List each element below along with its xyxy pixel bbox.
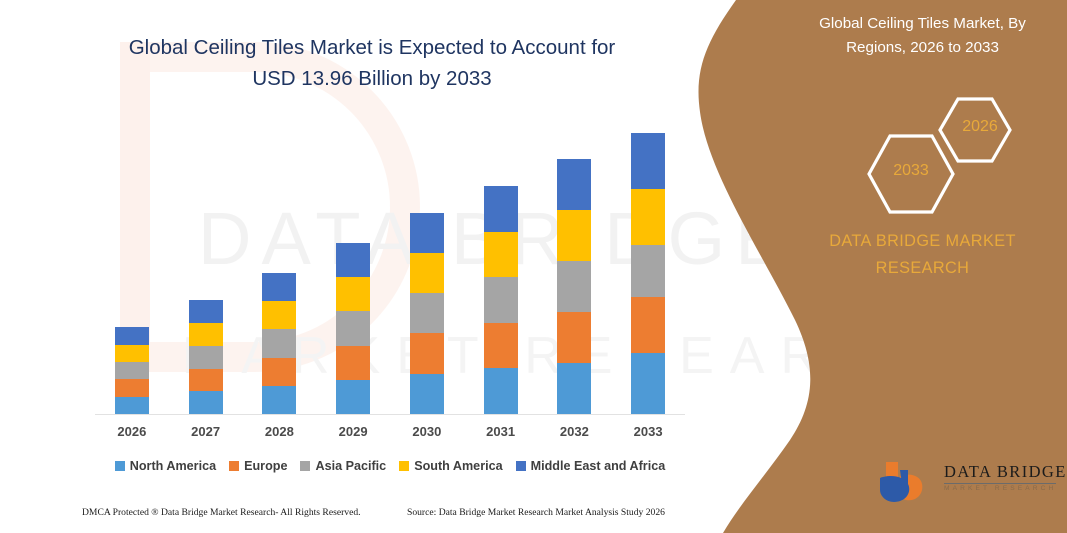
logo-tagline: MARKET RESEARCH [944,485,1058,492]
x-axis-tick-label: 2031 [464,424,538,439]
x-axis-line [95,414,685,415]
legend-label: Europe [244,459,287,473]
legend-item[interactable]: Asia Pacific [300,459,386,473]
x-axis-tick-label: 2028 [243,424,317,439]
bar-segment [557,261,591,312]
logo-divider [944,483,1056,484]
bar-segment [631,133,665,189]
bar-segment [410,333,444,373]
bar-segment [189,391,223,414]
bar-segment [557,363,591,414]
bar-segment [336,243,370,277]
x-axis-tick-label: 2030 [390,424,464,439]
infographic-canvas: DATA BRIDGE MARKET RESEARCH Global Ceili… [0,0,1067,533]
x-axis-tick-label: 2026 [95,424,169,439]
bar-segment [557,312,591,363]
x-axis-tick-label: 2029 [316,424,390,439]
legend-item[interactable]: South America [399,459,502,473]
legend-label: South America [414,459,502,473]
bar-segment [336,277,370,311]
bar-column [557,159,591,414]
footer-source: Source: Data Bridge Market Research Mark… [407,507,665,518]
chart-plot-area [95,130,685,415]
footer-copyright: DMCA Protected ® Data Bridge Market Rese… [82,507,361,518]
chart-legend: North AmericaEuropeAsia PacificSouth Ame… [95,456,685,476]
legend-item[interactable]: North America [115,459,216,473]
bar-segment [336,346,370,380]
bar-segment [631,189,665,245]
bar-segment [631,353,665,414]
bar-segment [189,300,223,323]
x-axis-labels: 20262027202820292030203120322033 [95,424,685,446]
stacked-bar-chart [95,130,685,415]
x-axis-tick-label: 2027 [169,424,243,439]
bar-segment [631,245,665,297]
bar-segment [189,346,223,369]
legend-swatch-icon [516,461,526,471]
bar-segment [115,379,149,396]
legend-item[interactable]: Middle East and Africa [516,459,666,473]
hexagon-2026-label: 2026 [945,118,1015,136]
bar-segment [484,232,518,278]
legend-item[interactable]: Europe [229,459,287,473]
bar-segment [557,210,591,261]
bar-segment [336,380,370,414]
brand-logo: DATA BRIDGE MARKET RESEARCH [878,458,1058,508]
dbmr-logo-icon [878,458,940,506]
bar-segment [631,297,665,353]
bar-segment [115,362,149,379]
legend-swatch-icon [300,461,310,471]
bar-segment [189,369,223,392]
bar-column [262,273,296,414]
bar-column [631,133,665,414]
bar-column [410,213,444,414]
page-title: Global Ceiling Tiles Market is Expected … [112,32,632,94]
hexagon-group: 2026 2033 [780,88,1067,198]
legend-label: North America [130,459,216,473]
legend-label: Middle East and Africa [531,459,666,473]
bar-segment [262,273,296,301]
bar-segment [410,213,444,253]
bar-segment [262,301,296,329]
logo-name: DATA BRIDGE [944,462,1058,482]
bar-segment [115,397,149,414]
bar-segment [410,253,444,293]
x-axis-tick-label: 2032 [538,424,612,439]
bar-segment [115,327,149,344]
bar-segment [189,323,223,346]
bar-segment [410,374,444,414]
bar-segment [336,311,370,345]
legend-swatch-icon [399,461,409,471]
panel-title: Global Ceiling Tiles Market, By Regions,… [790,12,1055,60]
bar-segment [484,186,518,232]
bar-column [484,186,518,414]
bar-segment [262,358,296,386]
bar-column [115,327,149,414]
bar-segment [484,368,518,414]
legend-swatch-icon [229,461,239,471]
bar-segment [262,386,296,414]
bar-segment [115,345,149,362]
bar-column [336,243,370,414]
hexagon-2033-label: 2033 [876,162,946,180]
region-panel: Global Ceiling Tiles Market, By Regions,… [780,0,1067,533]
bar-segment [262,329,296,357]
panel-brand-name: DATA BRIDGE MARKET RESEARCH [790,228,1055,282]
bar-segment [410,293,444,333]
x-axis-tick-label: 2033 [611,424,685,439]
footer: DMCA Protected ® Data Bridge Market Rese… [82,507,682,523]
legend-swatch-icon [115,461,125,471]
bar-segment [484,277,518,323]
bar-segment [484,323,518,369]
logo-wordmark: DATA BRIDGE MARKET RESEARCH [944,462,1058,492]
bar-column [189,300,223,414]
bar-segment [557,159,591,210]
legend-label: Asia Pacific [315,459,386,473]
